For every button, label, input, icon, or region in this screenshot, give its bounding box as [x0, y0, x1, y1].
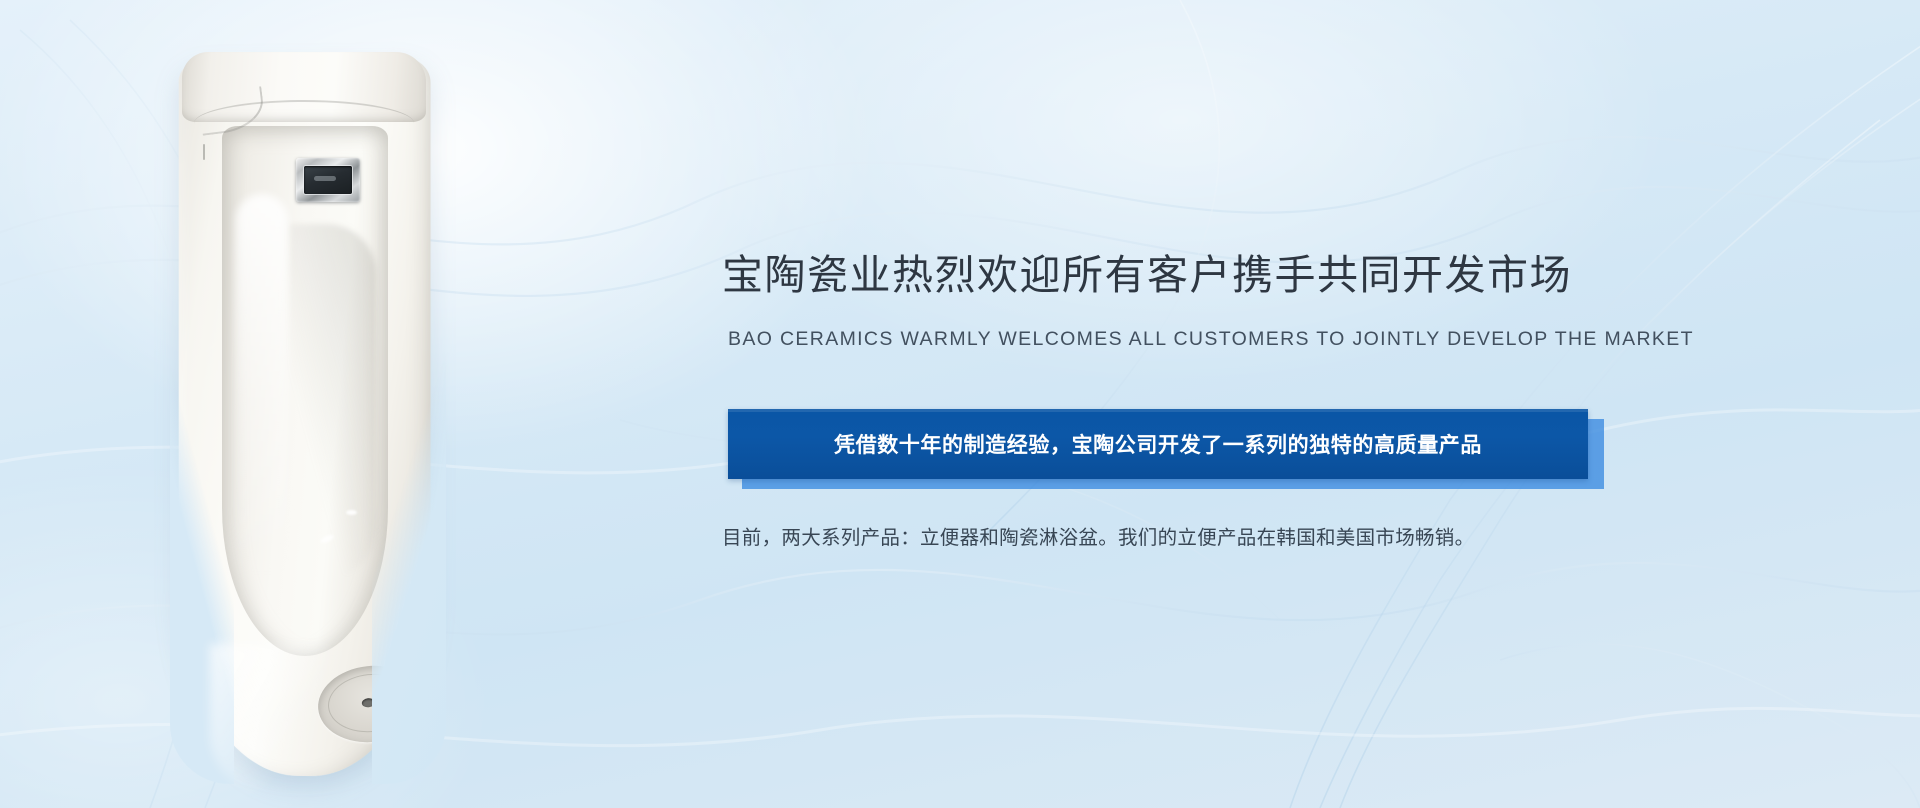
banner-copy: 宝陶瓷业热烈欢迎所有客户携手共同开发市场 BAO CERAMICS WARMLY…: [722, 0, 1622, 808]
gloss-spot: [346, 510, 357, 515]
ribbon-text: 凭借数十年的制造经验，宝陶公司开发了一系列的独特的高质量产品: [728, 409, 1588, 479]
bowl-highlight: [236, 194, 288, 574]
banner-paragraph: 目前，两大系列产品：立便器和陶瓷淋浴盆。我们的立便产品在韩国和美国市场畅销。: [722, 524, 1474, 553]
sensor-glare: [314, 176, 336, 181]
rim-tick-mark: [203, 144, 205, 160]
banner-headline: 宝陶瓷业热烈欢迎所有客户携手共同开发市场: [722, 255, 1572, 296]
body-taper-right: [372, 314, 446, 784]
promo-banner: 宝陶瓷业热烈欢迎所有客户携手共同开发市场 BAO CERAMICS WARMLY…: [0, 0, 1920, 808]
banner-ribbon: 凭借数十年的制造经验，宝陶公司开发了一系列的独特的高质量产品: [728, 409, 1600, 481]
bowl-shading: [290, 224, 376, 584]
front-highlight: [210, 644, 330, 794]
banner-subheadline: BAO CERAMICS WARMLY WELCOMES ALL CUSTOME…: [728, 330, 1694, 350]
sensor-window: [304, 166, 352, 194]
chrome-sensor-plate: [296, 158, 360, 202]
product-image-ceramic-sensor-urinal: [170, 44, 440, 776]
